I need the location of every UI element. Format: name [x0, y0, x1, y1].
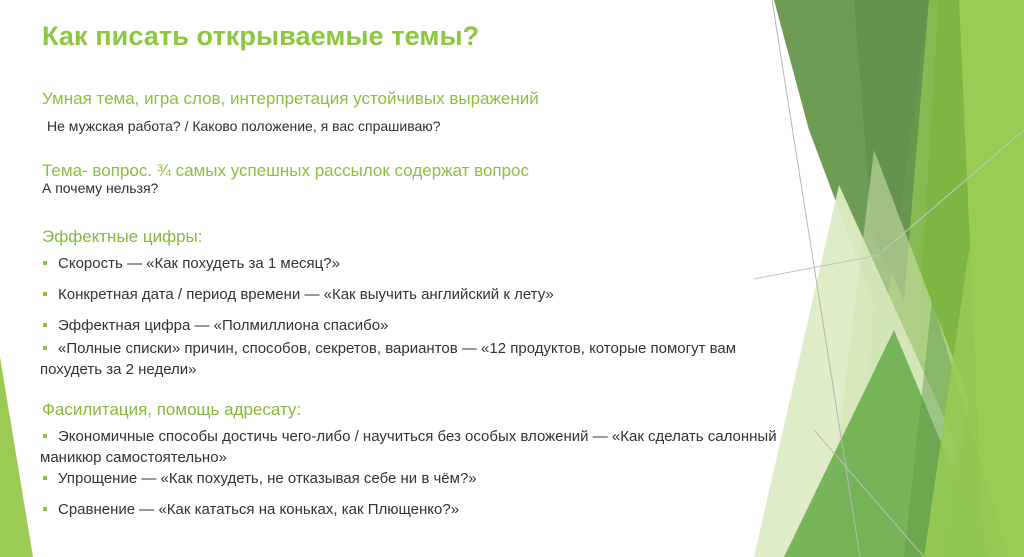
list-item-label: Скорость — «Как похудеть за 1 месяц?» — [58, 255, 340, 272]
page-title: Как писать открываемые темы? — [42, 21, 479, 52]
slide-content: Как писать открываемые темы? Умная тема,… — [40, 0, 800, 557]
list-item: Скорость — «Как похудеть за 1 месяц?» — [40, 253, 340, 274]
list-item-label: Сравнение — «Как кататься на коньках, ка… — [58, 501, 459, 518]
deco-shape-mid-bottom-2 — [904, 300, 1009, 557]
bullet-dot-icon — [43, 323, 47, 327]
deco-shape-bright-mid — [849, 0, 984, 557]
section-heading-effective-numbers: Эффектные цифры: — [42, 227, 202, 247]
deco-shape-mid-bottom — [784, 330, 989, 557]
deco-hairline-4 — [814, 430, 924, 557]
deco-shape-bright-bottom — [924, 250, 1024, 557]
list-item: Сравнение — «Как кататься на коньках, ка… — [40, 499, 459, 520]
list-item-label: Экономичные способы достичь чего-либо / … — [40, 428, 777, 466]
deco-shape-dark-wedge-2 — [854, 0, 929, 300]
list-item: «Полные списки» причин, способов, секрет… — [40, 338, 800, 380]
section-heading-question-topic: Тема- вопрос. ¾ самых успешных рассылок … — [42, 161, 529, 181]
section-subline-smart-topic: Не мужская работа? / Каково положение, я… — [47, 118, 441, 134]
deco-shape-bright-right — [904, 0, 1024, 557]
bullet-dot-icon — [43, 434, 47, 438]
bullet-dot-icon — [43, 507, 47, 511]
slide-canvas: Как писать открываемые темы? Умная тема,… — [0, 0, 1024, 557]
bullet-dot-icon — [43, 292, 47, 296]
section-heading-facilitation: Фасилитация, помощь адресату: — [42, 400, 301, 420]
list-item-label: «Полные списки» причин, способов, секрет… — [40, 340, 736, 378]
list-item: Упрощение — «Как похудеть, не отказывая … — [40, 468, 477, 489]
list-item: Конкретная дата / период времени — «Как … — [40, 284, 554, 305]
bullet-dot-icon — [43, 476, 47, 480]
bullet-dot-icon — [43, 261, 47, 265]
deco-shape-pale-2 — [824, 150, 969, 557]
deco-hairline-3 — [882, 130, 1024, 252]
section-subline-question-topic: А почему нельзя? — [42, 180, 158, 196]
list-item: Эффектная цифра — «Полмиллиона спасибо» — [40, 315, 388, 336]
list-item-label: Упрощение — «Как похудеть, не отказывая … — [58, 470, 477, 487]
deco-shape-left-wedge — [0, 357, 33, 557]
list-item: Экономичные способы достичь чего-либо / … — [40, 426, 800, 468]
bullet-dot-icon — [43, 346, 47, 350]
list-item-label: Эффектная цифра — «Полмиллиона спасибо» — [58, 317, 388, 334]
list-item-label: Конкретная дата / период времени — «Как … — [58, 286, 554, 303]
section-heading-smart-topic: Умная тема, игра слов, интерпретация уст… — [42, 89, 539, 109]
